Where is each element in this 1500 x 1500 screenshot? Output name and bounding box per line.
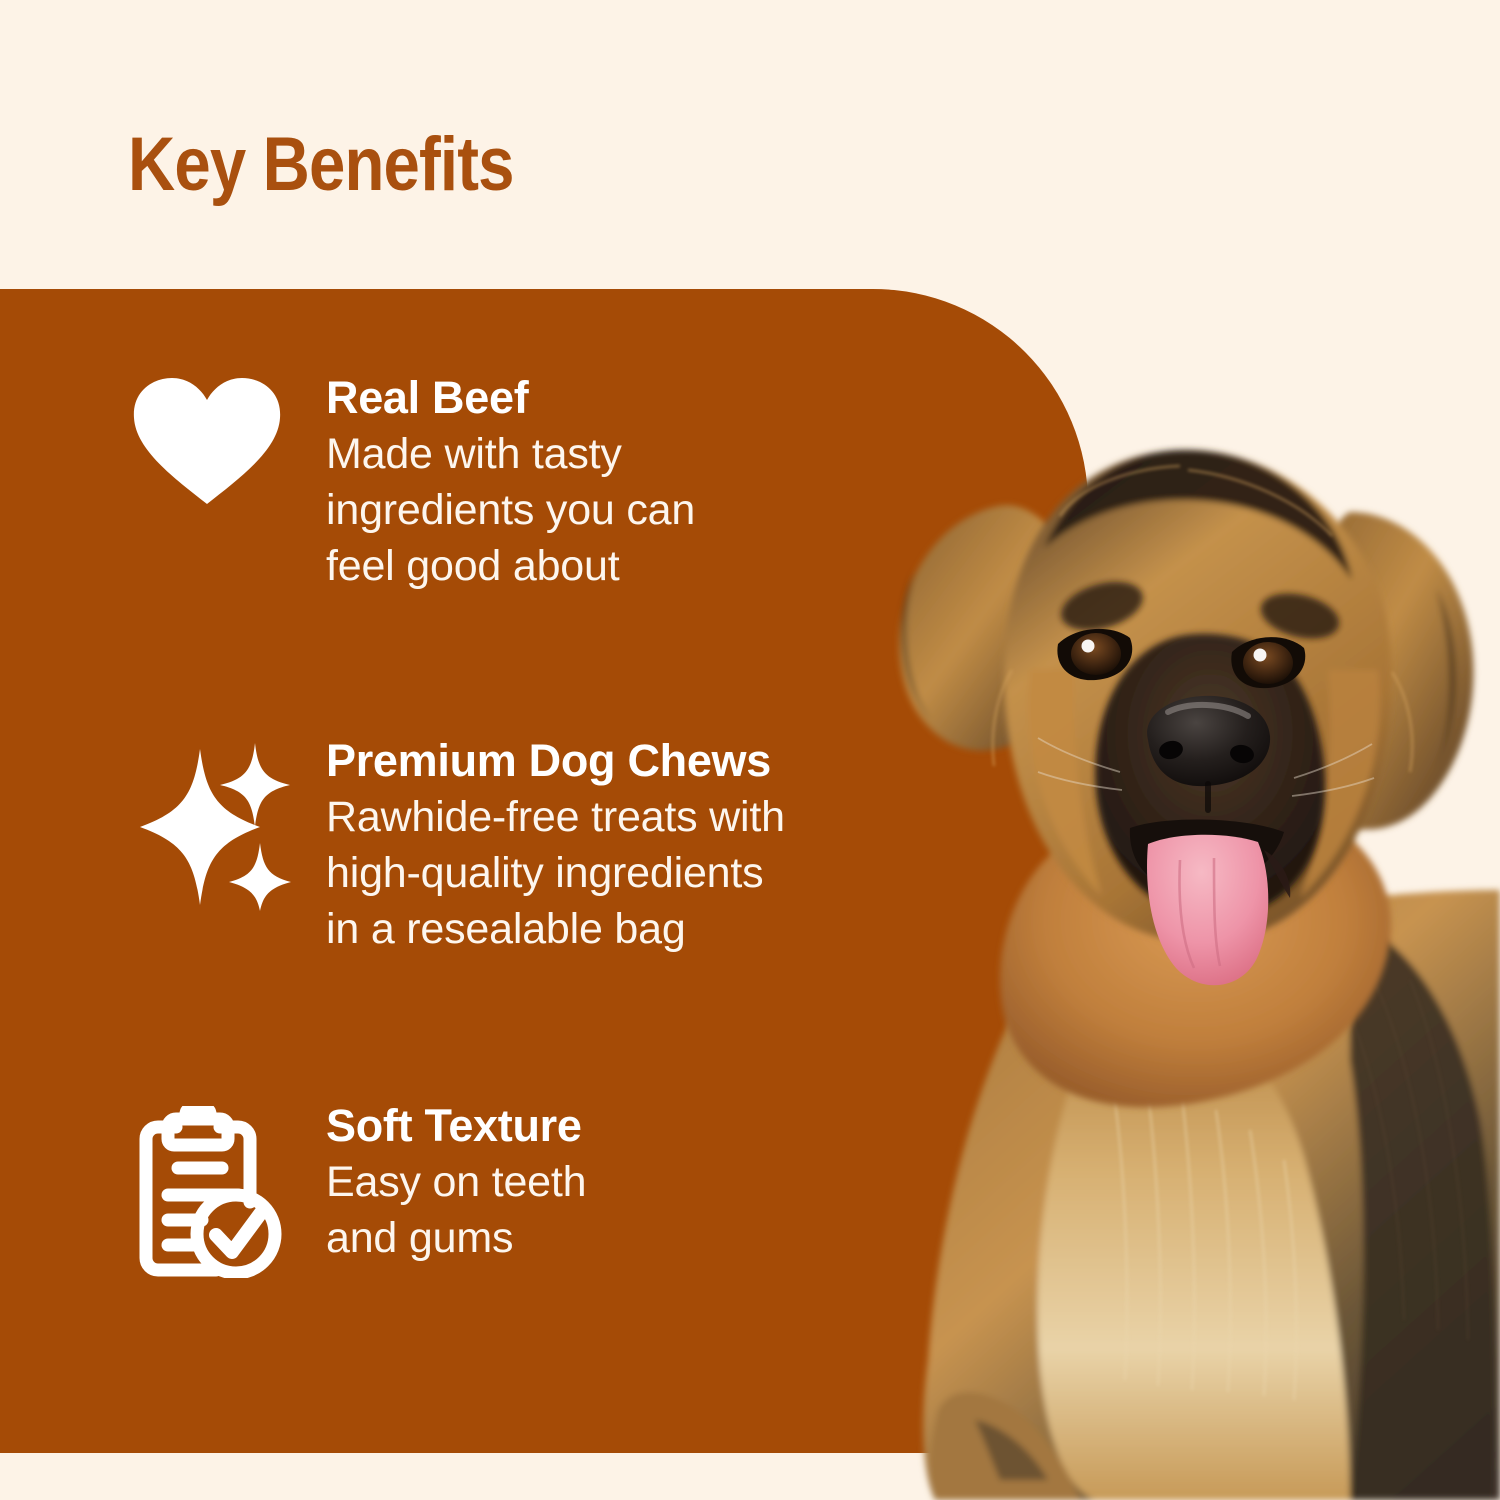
benefit-description: Rawhide-free treats with high-quality in… — [326, 789, 785, 957]
sparkles-icon — [132, 735, 308, 911]
benefit-desc-line: high-quality ingredients — [326, 845, 785, 901]
benefit-description: Made with tasty ingredients you can feel… — [326, 426, 695, 594]
benefit-description: Easy on teeth and gums — [326, 1154, 586, 1266]
benefit-desc-line: and gums — [326, 1210, 586, 1266]
benefit-title: Real Beef — [326, 372, 695, 424]
benefit-desc-line: in a resealable bag — [326, 901, 785, 957]
product-benefits-card: Key Benefits Real Beef Made with tasty i… — [0, 0, 1500, 1500]
benefit-desc-line: Made with tasty — [326, 426, 695, 482]
page-title: Key Benefits — [128, 124, 514, 206]
benefit-item-real-beef: Real Beef Made with tasty ingredients yo… — [0, 372, 695, 594]
benefit-desc-line: feel good about — [326, 538, 695, 594]
benefit-text: Premium Dog Chews Rawhide-free treats wi… — [326, 735, 785, 957]
benefit-desc-line: Easy on teeth — [326, 1154, 586, 1210]
benefit-text: Real Beef Made with tasty ingredients yo… — [326, 372, 695, 594]
benefit-desc-line: ingredients you can — [326, 482, 695, 538]
benefit-item-premium-dog-chews: Premium Dog Chews Rawhide-free treats wi… — [0, 735, 785, 957]
benefit-desc-line: Rawhide-free treats with — [326, 789, 785, 845]
benefit-item-soft-texture: Soft Texture Easy on teeth and gums — [0, 1100, 586, 1278]
clipboard-check-icon — [132, 1100, 308, 1278]
benefit-title: Premium Dog Chews — [326, 735, 785, 787]
benefit-title: Soft Texture — [326, 1100, 586, 1152]
heart-icon — [132, 372, 308, 504]
benefit-text: Soft Texture Easy on teeth and gums — [326, 1100, 586, 1266]
